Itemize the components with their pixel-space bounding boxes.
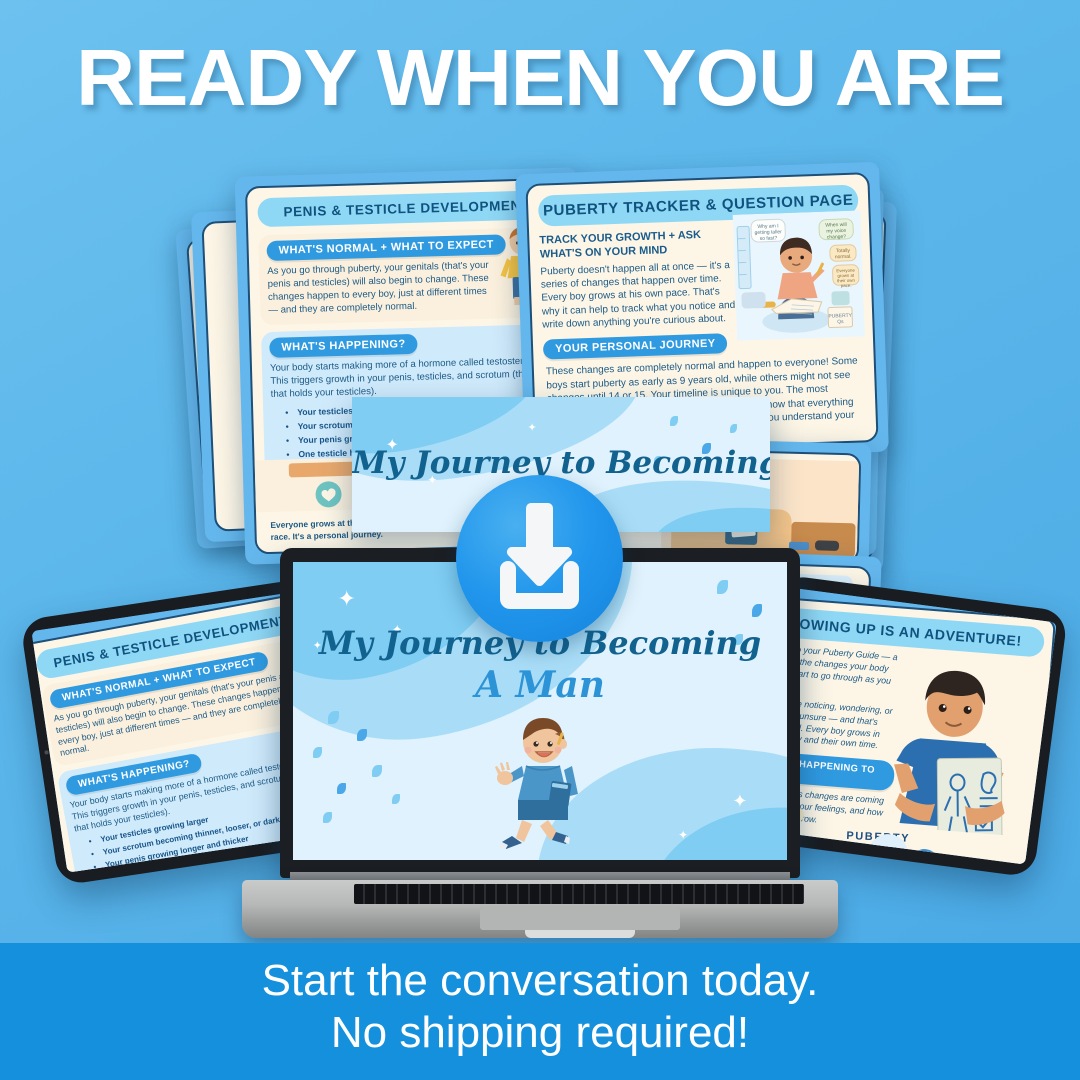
- laptop-trackpad: [480, 908, 680, 930]
- section-label-whats-normal: WHAT'S NORMAL + WHAT TO EXPECT: [266, 234, 506, 261]
- section-label-whats-happening: WHAT'S HAPPENING?: [269, 334, 418, 358]
- avatar: [836, 842, 866, 864]
- avatar: [867, 833, 910, 865]
- poster-stage: READY WHEN YOU ARE PENIS & TESTICLE DEVE…: [0, 0, 1080, 1080]
- svg-text:change?: change?: [827, 234, 847, 241]
- boy-writing-journal-icon: Why am I getting taller so fast? When wi…: [733, 210, 865, 340]
- download-icon[interactable]: [456, 475, 623, 642]
- section-label-personal-journey: YOUR PERSONAL JOURNEY: [543, 334, 728, 360]
- svg-text:Qs: Qs: [837, 319, 844, 325]
- section-body-track-growth: Puberty doesn't happen all at once — it'…: [540, 258, 740, 332]
- section-label-track-growth: TRACK YOUR GROWTH + ASK WHAT'S ON YOUR M…: [539, 228, 737, 262]
- tablet-camera-icon: [44, 750, 49, 755]
- svg-text:pace.: pace.: [841, 283, 852, 288]
- page-header-band: PENIS & TESTICLE DEVELOPMENT: [257, 190, 556, 227]
- waving-running-boy-icon: [488, 714, 592, 850]
- footer-banner: Start the conversation today. No shippin…: [0, 943, 1080, 1080]
- svg-text:normal.: normal.: [835, 254, 852, 261]
- laptop-latch-notch: [525, 930, 635, 938]
- avatar: [909, 848, 939, 865]
- cover-title-line2: A Man: [293, 664, 787, 706]
- section-body-whats-happening: Your body starts making more of a hormon…: [270, 355, 553, 401]
- page-title: READY WHEN YOU ARE: [0, 32, 1080, 124]
- svg-text:so fast?: so fast?: [760, 235, 778, 242]
- banner-line-1: Start the conversation today.: [0, 955, 1080, 1007]
- boy-holding-diagram-icon: [873, 655, 1036, 836]
- download-badge[interactable]: [456, 475, 623, 642]
- laptop-keyboard: [354, 884, 804, 904]
- banner-line-2: No shipping required!: [0, 1007, 1080, 1059]
